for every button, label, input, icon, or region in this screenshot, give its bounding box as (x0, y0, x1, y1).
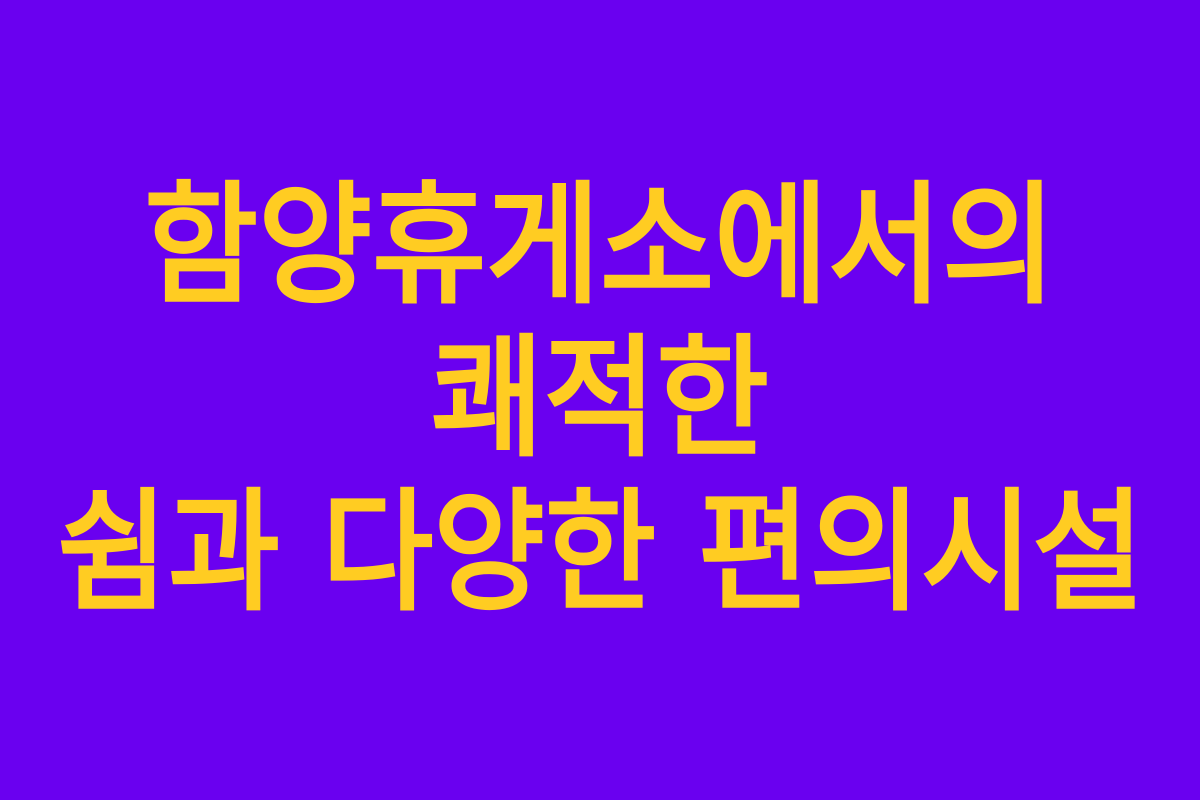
headline-line-1: 함양휴게소에서의 (0, 170, 1200, 323)
headline-line-1-text: 함양휴게소에서의 (144, 170, 1056, 323)
headline-text-block: 함양휴게소에서의 쾌적한 쉼과 다양한 편의시설 (0, 170, 1200, 629)
headline-line-2: 쾌적한 (0, 323, 1200, 476)
promo-banner: 함양휴게소에서의 쾌적한 쉼과 다양한 편의시설 (0, 0, 1200, 800)
headline-line-3-text: 쉼과 다양한 편의시설 (57, 477, 1144, 630)
headline-line-2-text: 쾌적한 (431, 323, 769, 476)
headline-line-3: 쉼과 다양한 편의시설 (0, 477, 1200, 630)
